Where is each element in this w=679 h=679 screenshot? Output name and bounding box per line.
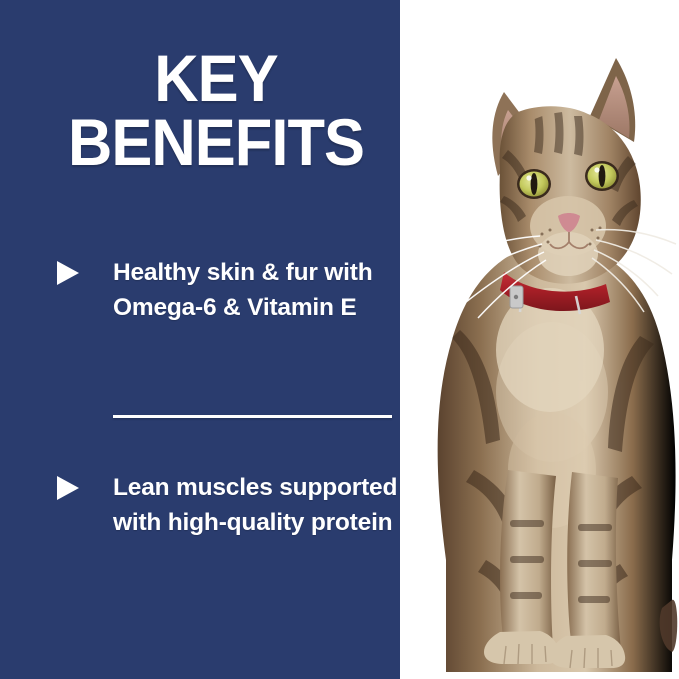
benefit-item: Healthy skin & fur with Omega-6 & Vitami… <box>56 256 426 326</box>
page-title-line-2: BENEFITS <box>15 110 417 174</box>
benefit-text: Lean muscles supported with high-quality… <box>113 471 426 541</box>
page-title: KEY BENEFITS <box>15 46 417 174</box>
section-divider <box>113 415 392 418</box>
key-benefits-poster: KEY BENEFITS Healthy skin & fur with Ome… <box>0 0 679 679</box>
cat-photo <box>400 0 679 679</box>
page-title-line-1: KEY <box>15 46 417 110</box>
benefit-text: Healthy skin & fur with Omega-6 & Vitami… <box>113 256 426 326</box>
benefit-item: Lean muscles supported with high-quality… <box>56 471 426 541</box>
triangle-right-icon <box>56 475 80 501</box>
triangle-right-icon <box>56 260 80 286</box>
